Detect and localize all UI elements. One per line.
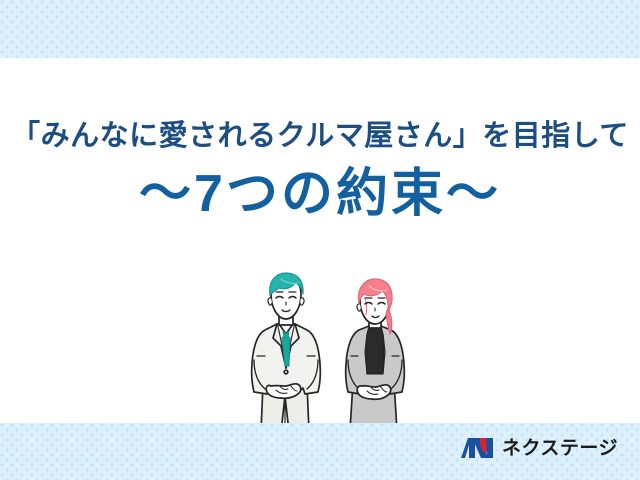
- headline-block: 「みんなに愛されるクルマ屋さん」を目指して 〜7つの約束〜: [0, 118, 640, 223]
- nextage-n-mark-icon: [461, 436, 495, 460]
- man-figure: [252, 273, 321, 432]
- promo-banner: 「みんなに愛されるクルマ屋さん」を目指して 〜7つの約束〜: [0, 0, 640, 480]
- headline-line-2: 〜7つの約束〜: [0, 166, 640, 223]
- top-dot-band: [0, 0, 640, 58]
- woman-figure: [346, 279, 405, 434]
- brand-logo: ネクステージ: [461, 436, 618, 460]
- people-bowing-illustration: [243, 272, 433, 434]
- headline-line-1: 「みんなに愛されるクルマ屋さん」を目指して: [0, 118, 640, 154]
- brand-logo-text: ネクステージ: [502, 439, 618, 458]
